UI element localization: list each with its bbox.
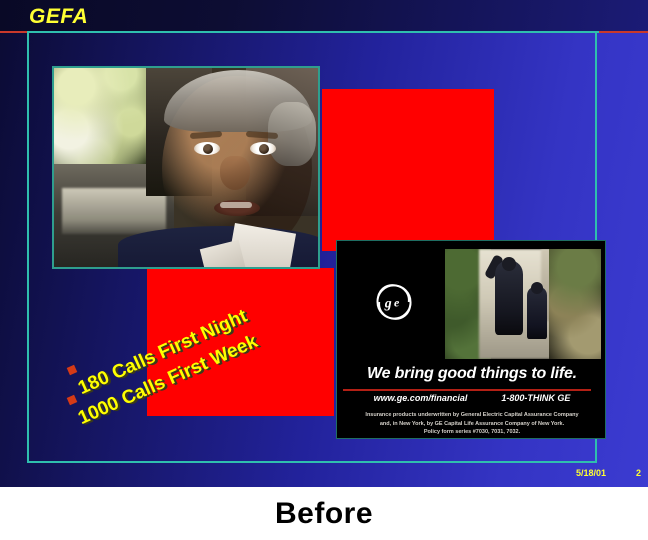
ad-photo-child-head [531,282,543,294]
square-bullet-icon [67,395,78,406]
photo-nose [220,156,250,190]
ad-website: www.ge.com/financial [374,393,468,403]
bullet-list: 180 Calls First Night 1000 Calls First W… [58,282,328,412]
photo-pupil-right [259,144,269,154]
svg-text:e: e [394,296,400,310]
square-bullet-icon [67,365,78,376]
ad-contact-row: www.ge.com/financial 1-800-THINK GE [337,393,606,403]
red-block-upper [322,89,494,251]
caption-bar: Before [0,487,648,540]
svg-text:g: g [384,296,392,311]
ad-disclaimer-line: and, in New York, by GE Capital Life Ass… [337,420,606,429]
ad-photo [445,249,601,359]
ad-photo-adult-head [502,257,516,271]
slide-page-number: 2 [636,468,641,478]
portrait-photo [52,66,320,269]
photo-pupil-left [203,144,213,154]
ad-tagline: We bring good things to life. [337,365,606,383]
ad-photo-child [527,287,547,339]
ad-photo-adult [495,261,523,335]
page-title: GEFA [29,5,88,29]
caption-label: Before [275,497,373,531]
ad-photo-right-foliage [549,249,601,359]
ad-disclaimer-line: Insurance products underwritten by Gener… [337,411,606,420]
ge-advertisement: g e We bring good things to life. www.ge… [336,240,606,439]
presentation-slide: GEFA 180 Calls First Night 1000 Calls Fi… [0,0,648,487]
photo-teeth [220,202,252,208]
ad-phone: 1-800-THINK GE [501,393,570,403]
ad-disclaimer: Insurance products underwritten by Gener… [337,411,606,437]
slide-header-band [0,0,648,31]
ge-monogram-logo: g e [371,279,417,325]
ad-divider-rule [343,389,591,391]
slide-date: 5/18/01 [576,468,606,478]
ad-disclaimer-line: Policy form series #7030, 7031, 7032. [337,428,606,437]
